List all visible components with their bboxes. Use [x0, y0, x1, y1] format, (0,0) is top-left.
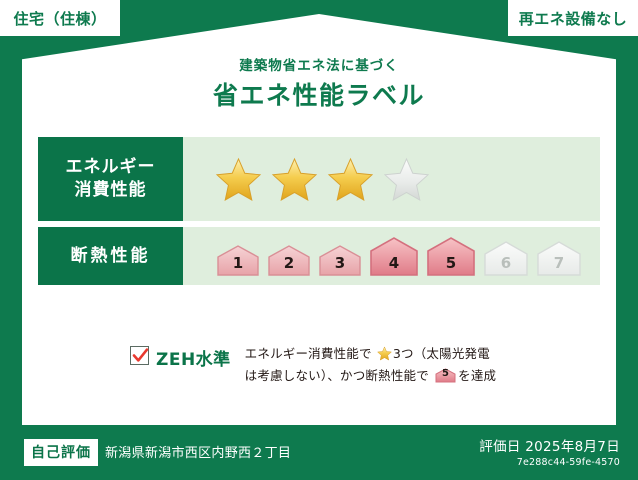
check-icon — [132, 347, 149, 364]
evaluation-id: 7e288c44-59fe-4570 — [479, 457, 620, 468]
insulation-level-5: 5 — [425, 236, 477, 276]
star-icon-inline — [377, 346, 392, 361]
insulation-level-6: 6 — [482, 240, 530, 276]
row-insulation-levels: 1 2 3 — [183, 227, 600, 285]
label-title: 建築物省エネ法に基づく 省エネ性能ラベル — [0, 58, 638, 111]
insulation-badge-inline-number: 5 — [435, 365, 456, 383]
zeh-checkbox[interactable] — [130, 346, 149, 365]
insulation-level-4: 4 — [368, 236, 420, 276]
zeh-description: エネルギー消費性能で 3つ（太陽光発電 は考慮しない）、かつ断熱性能で 5 を達… — [245, 343, 497, 387]
row-insulation-label: 断熱性能 — [38, 227, 183, 285]
row-energy-performance: エネルギー 消費性能 — [38, 137, 600, 221]
property-address: 新潟県新潟市西区内野西２丁目 — [105, 442, 291, 461]
row-energy-stars — [183, 137, 600, 221]
insulation-level-3: 3 — [317, 244, 363, 276]
star-icon-1 — [215, 157, 262, 202]
insulation-level-5-number: 5 — [425, 254, 477, 272]
tag-renewable-energy-text: 再エネ設備なし — [519, 8, 628, 29]
zeh-desc-part4: を達成 — [458, 368, 496, 383]
insulation-level-7-number: 7 — [535, 254, 583, 272]
insulation-level-1: 1 — [215, 244, 261, 276]
star-icon-4-empty — [383, 157, 430, 202]
self-evaluation-badge: 自己評価 — [24, 439, 98, 466]
insulation-level-1-number: 1 — [215, 254, 261, 272]
zeh-desc-part1: エネルギー消費性能で — [245, 346, 372, 361]
tag-renewable-energy: 再エネ設備なし — [508, 0, 638, 36]
title-main: 省エネ性能ラベル — [0, 81, 638, 111]
row-insulation-performance: 断熱性能 1 — [38, 227, 600, 285]
tag-building-type: 住宅（住棟） — [0, 0, 120, 36]
star-icon-2 — [271, 157, 318, 202]
energy-performance-label: 住宅（住棟） 再エネ設備なし 建築物省エネ法に基づく 省エネ性能ラベル エネルギ… — [0, 0, 638, 480]
row-energy-label-line1: エネルギー — [66, 156, 156, 179]
insulation-level-6-number: 6 — [482, 254, 530, 272]
row-energy-label-line2: 消費性能 — [75, 179, 147, 202]
insulation-level-7: 7 — [535, 240, 583, 276]
zeh-desc-part2: 3つ（太陽光発電 — [393, 346, 490, 361]
zeh-section: ZEH水準 エネルギー消費性能で 3つ（太陽光発電 は考慮しない）、かつ断熱性能… — [130, 343, 496, 387]
star-icon-3 — [327, 157, 374, 202]
footer-left: 自己評価 新潟県新潟市西区内野西２丁目 — [24, 439, 291, 466]
insulation-badge-inline: 5 — [435, 368, 456, 383]
title-subtitle: 建築物省エネ法に基づく — [0, 58, 638, 74]
zeh-title: ZEH水準 — [156, 345, 231, 370]
footer-right: 評価日 2025年8月7日 7e288c44-59fe-4570 — [479, 435, 620, 468]
zeh-desc-part3: は考慮しない）、かつ断熱性能で — [245, 368, 429, 383]
insulation-level-2-number: 2 — [266, 254, 312, 272]
insulation-house-scale: 1 2 3 — [215, 236, 583, 276]
insulation-level-3-number: 3 — [317, 254, 363, 272]
tag-building-type-text: 住宅（住棟） — [13, 8, 106, 29]
insulation-level-2: 2 — [266, 244, 312, 276]
insulation-level-4-number: 4 — [368, 254, 420, 272]
performance-rows: エネルギー 消費性能 — [38, 137, 600, 285]
evaluation-date: 評価日 2025年8月7日 — [479, 435, 620, 455]
row-energy-label: エネルギー 消費性能 — [38, 137, 183, 221]
